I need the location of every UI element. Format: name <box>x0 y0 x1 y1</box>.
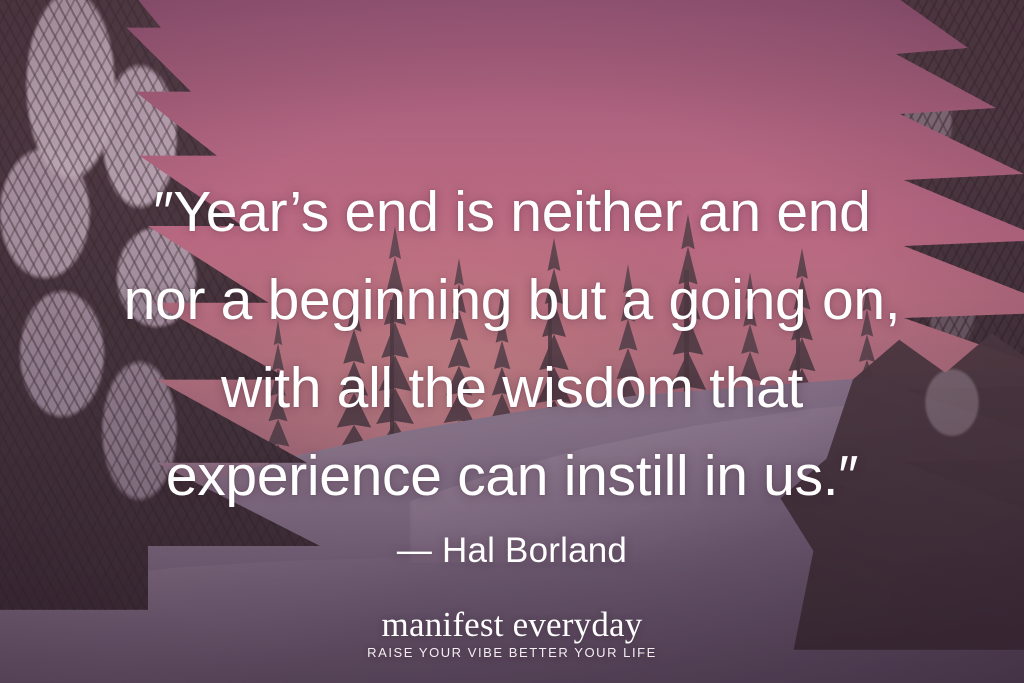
overlay-content: ″Year’s end is neither an end nor a begi… <box>0 0 1024 683</box>
quote-line-2: nor a beginning but a going on, <box>0 256 1024 344</box>
quote-text: ″Year’s end is neither an end nor a begi… <box>0 0 1024 520</box>
logo-tagline: RAISE YOUR VIBE BETTER YOUR LIFE <box>367 645 657 661</box>
quote-attribution: — Hal Borland <box>0 520 1024 572</box>
quote-line-1: ″Year’s end is neither an end <box>0 168 1024 256</box>
logo-wordmark: manifest everyday <box>382 606 643 644</box>
brand-logo: manifest everyday RAISE YOUR VIBE BETTER… <box>0 606 1024 661</box>
quote-graphic: ″Year’s end is neither an end nor a begi… <box>0 0 1024 683</box>
quote-line-4: experience can instill in us.″ <box>0 432 1024 520</box>
quote-line-3: with all the wisdom that <box>0 344 1024 432</box>
